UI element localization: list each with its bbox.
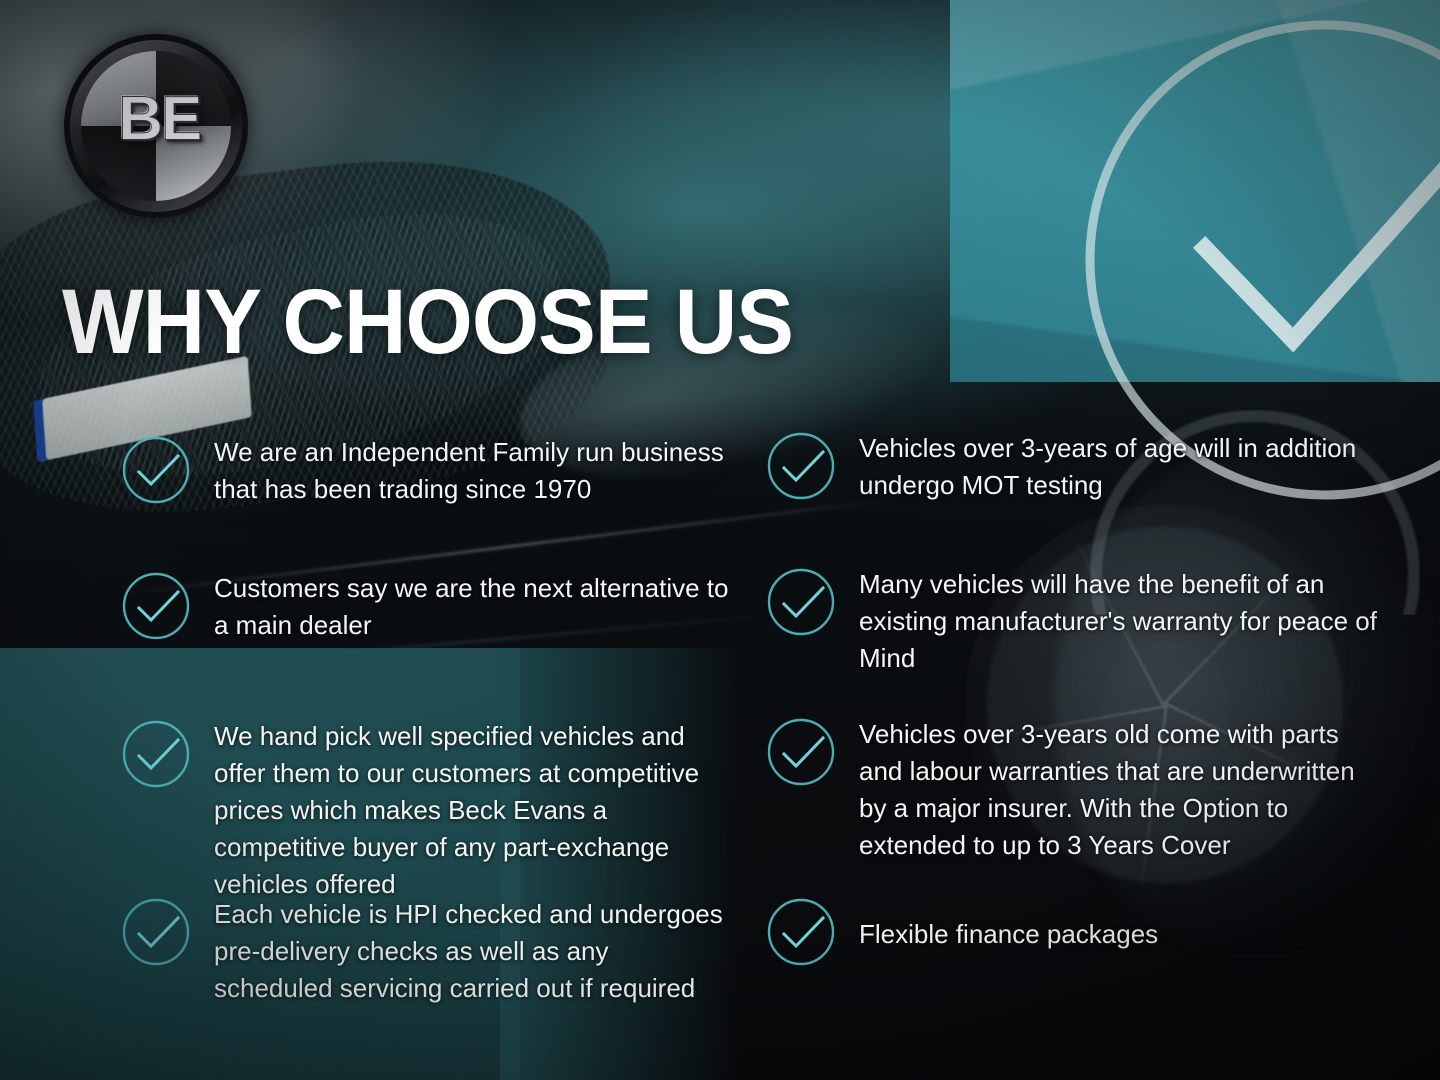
benefit-item: Vehicles over 3-years old come with part… (765, 716, 1379, 864)
check-circle-icon (765, 716, 837, 788)
benefits-grid: We are an Independent Family run busines… (0, 0, 1440, 1080)
benefit-item: Vehicles over 3-years of age will in add… (765, 430, 1379, 504)
benefit-item: Many vehicles will have the benefit of a… (765, 566, 1379, 677)
benefit-text: Vehicles over 3-years old come with part… (859, 716, 1379, 864)
benefit-text: We are an Independent Family run busines… (214, 434, 734, 508)
check-circle-icon (765, 566, 837, 638)
benefit-text: We hand pick well specified vehicles and… (214, 718, 734, 903)
benefit-item: Flexible finance packages (765, 896, 1158, 968)
benefit-text: Customers say we are the next alternativ… (214, 570, 734, 644)
benefit-item: We are an Independent Family run busines… (120, 434, 734, 508)
benefit-item: Customers say we are the next alternativ… (120, 570, 734, 644)
check-circle-icon (120, 896, 192, 968)
benefit-text: Each vehicle is HPI checked and undergoe… (214, 896, 734, 1007)
why-choose-us-slide: BE WHY CHOOSE US We are an Independent F… (0, 0, 1440, 1080)
check-circle-icon (120, 434, 192, 506)
check-circle-icon (120, 570, 192, 642)
benefit-text: Flexible finance packages (859, 896, 1158, 953)
check-circle-icon (120, 718, 192, 790)
benefit-text: Vehicles over 3-years of age will in add… (859, 430, 1379, 504)
benefit-item: We hand pick well specified vehicles and… (120, 718, 734, 903)
check-circle-icon (765, 430, 837, 502)
check-circle-icon (765, 896, 837, 968)
benefit-item: Each vehicle is HPI checked and undergoe… (120, 896, 734, 1007)
benefit-text: Many vehicles will have the benefit of a… (859, 566, 1379, 677)
